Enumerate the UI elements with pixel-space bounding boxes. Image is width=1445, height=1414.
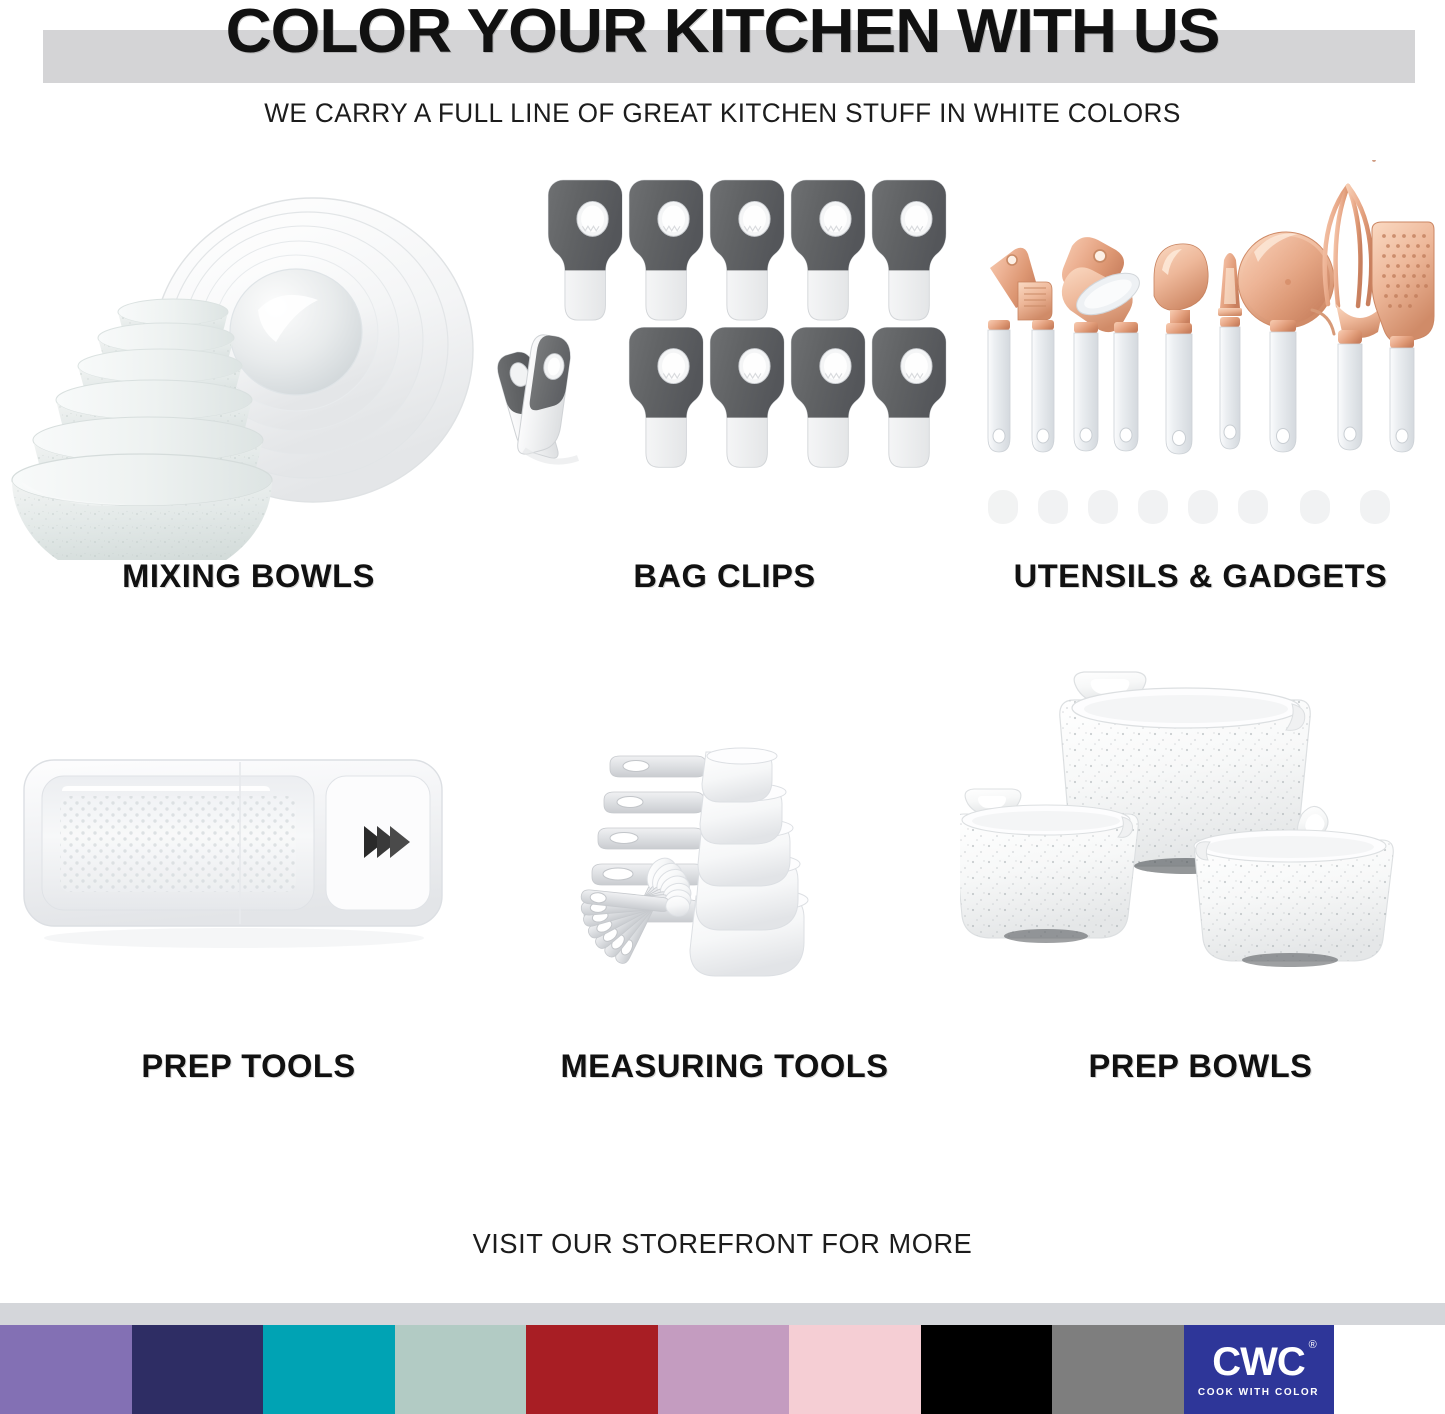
prep-tools-image	[8, 650, 489, 1050]
color-swatch-black	[921, 1325, 1053, 1414]
color-swatch-pink	[789, 1325, 921, 1414]
category-label: MEASURING TOOLS	[479, 1048, 970, 1085]
color-swatch-red	[526, 1325, 658, 1414]
color-swatch-teal	[263, 1325, 395, 1414]
category-card-mixing-bowls[interactable]: MIXING BOWLS	[8, 160, 489, 650]
category-card-bag-clips[interactable]: BAG CLIPS	[484, 160, 965, 650]
color-swatch-navy	[132, 1325, 264, 1414]
category-card-prep-tools[interactable]: PREP TOOLS	[8, 650, 489, 1140]
color-swatch-sage	[395, 1325, 527, 1414]
measuring-tools-image	[484, 650, 965, 1050]
logo-wordmark: CWC®	[1212, 1342, 1305, 1382]
page-subtitle: WE CARRY A FULL LINE OF GREAT KITCHEN ST…	[22, 98, 1424, 129]
color-strip-top-bar	[0, 1303, 1445, 1325]
category-grid: MIXING BOWLS	[0, 150, 1445, 1160]
header: COLOR YOUR KITCHEN WITH US WE CARRY A FU…	[0, 0, 1445, 150]
category-label: PREP TOOLS	[3, 1048, 494, 1085]
category-card-utensils-gadgets[interactable]: UTENSILS & GADGETS	[960, 160, 1441, 650]
bag-clips-image	[484, 160, 965, 560]
category-card-prep-bowls[interactable]: PREP BOWLS	[960, 650, 1441, 1140]
color-swatch-orchid	[658, 1325, 790, 1414]
brand-logo: CWC® COOK WITH COLOR	[1184, 1325, 1334, 1414]
utensils-gadgets-image	[960, 160, 1441, 560]
page-title: COLOR YOUR KITCHEN WITH US	[0, 0, 1445, 67]
prep-bowls-image	[960, 650, 1441, 1050]
category-label: MIXING BOWLS	[3, 558, 494, 595]
registered-trademark-icon: ®	[1309, 1340, 1316, 1351]
logo-tagline: COOK WITH COLOR	[1198, 1387, 1319, 1398]
category-label: PREP BOWLS	[955, 1048, 1445, 1085]
category-card-measuring-tools[interactable]: MEASURING TOOLS	[484, 650, 965, 1140]
mixing-bowls-image	[8, 160, 489, 560]
color-swatch-gray	[1052, 1325, 1184, 1414]
storefront-cta-text[interactable]: VISIT OUR STOREFRONT FOR MORE	[22, 1228, 1424, 1260]
color-swatch-purple	[0, 1325, 132, 1414]
category-label: BAG CLIPS	[479, 558, 970, 595]
category-label: UTENSILS & GADGETS	[955, 558, 1445, 595]
color-strip: CWC® COOK WITH COLOR	[0, 1325, 1445, 1414]
